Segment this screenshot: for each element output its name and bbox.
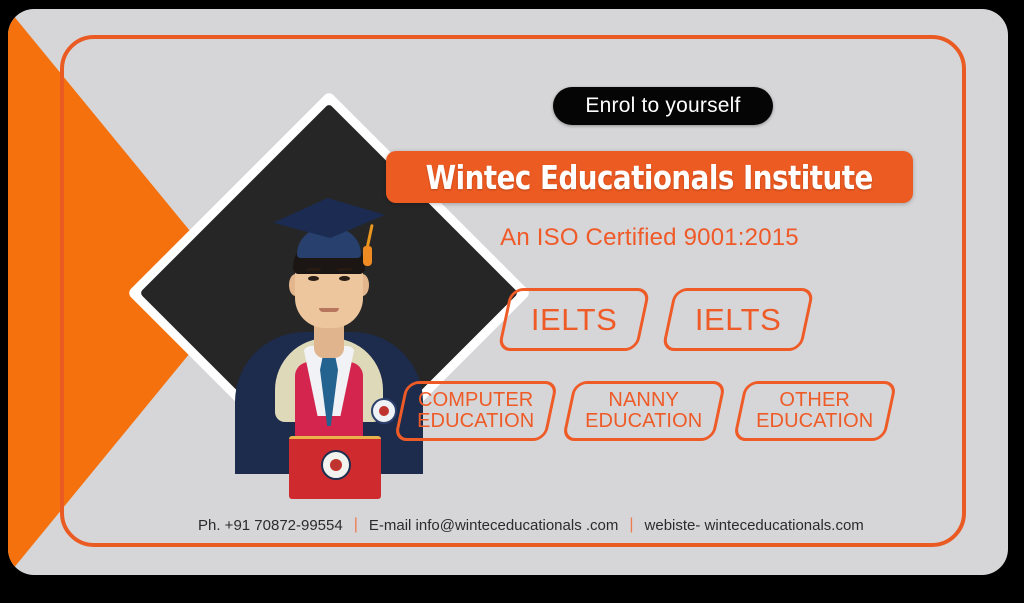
course-badge-nanny-education[interactable]: NANNY EDUCATION xyxy=(562,381,727,441)
mouth xyxy=(319,308,339,312)
footer-phone[interactable]: Ph. +91 70872-99554 xyxy=(198,517,343,534)
footer-separator-1: | xyxy=(354,516,358,534)
institute-title: Wintec Educationals Institute xyxy=(426,158,873,197)
banner-card: Enrol to yourself Wintec Educationals In… xyxy=(8,9,1008,575)
course-badge-ielts-1[interactable]: IELTS xyxy=(497,288,650,351)
diploma-seal-icon xyxy=(321,450,351,480)
course-badge-computer-education[interactable]: COMPUTER EDUCATION xyxy=(394,381,559,441)
tagline-pill: Enrol to yourself xyxy=(553,87,773,125)
institute-title-bar: Wintec Educationals Institute xyxy=(386,151,913,203)
course-badge-label: IELTS xyxy=(531,304,617,336)
banner-stage: Enrol to yourself Wintec Educationals In… xyxy=(0,0,1024,603)
course-badge-ielts-2[interactable]: IELTS xyxy=(661,288,814,351)
eyebrow-left xyxy=(306,268,321,271)
eye-left xyxy=(308,276,319,281)
footer-email[interactable]: E-mail info@winteceducationals .com xyxy=(369,517,619,534)
course-badge-other-education[interactable]: OTHER EDUCATION xyxy=(733,381,898,441)
tassel xyxy=(363,246,372,266)
course-badge-label: COMPUTER EDUCATION xyxy=(417,390,534,431)
contact-footer: Ph. +91 70872-99554 | E-mail info@wintec… xyxy=(198,516,858,534)
eye-right xyxy=(339,276,350,281)
iso-certification-text: An ISO Certified 9001:2015 xyxy=(386,224,913,252)
course-badge-label: OTHER EDUCATION xyxy=(756,390,873,431)
course-badge-label: NANNY EDUCATION xyxy=(585,390,702,431)
course-badge-label: IELTS xyxy=(695,304,781,336)
eyebrow-right xyxy=(337,268,352,271)
footer-website[interactable]: webiste- winteceducationals.com xyxy=(645,517,864,534)
footer-separator-2: | xyxy=(629,516,633,534)
gown-emblem-badge xyxy=(371,398,397,424)
